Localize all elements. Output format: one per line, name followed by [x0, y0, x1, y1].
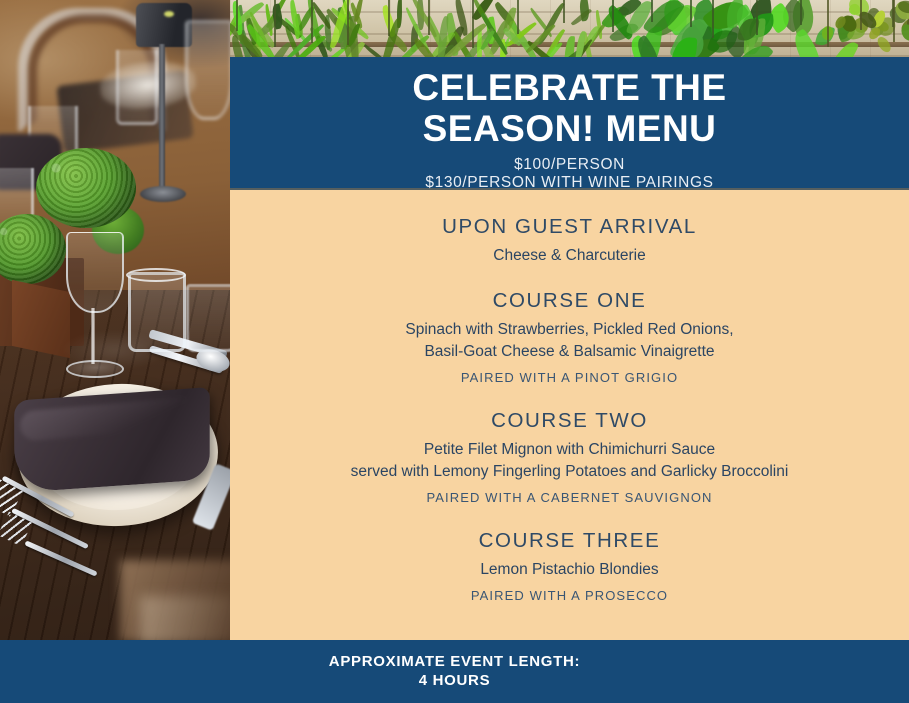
course-description-line-1: Cheese & Charcuterie: [260, 245, 879, 267]
photo-boxwood-ball-large: [36, 148, 136, 228]
course-one: COURSE ONE Spinach with Strawberries, Pi…: [260, 288, 879, 387]
course-description-line-2: served with Lemony Fingerling Potatoes a…: [260, 461, 879, 483]
course-title: UPON GUEST ARRIVAL: [260, 214, 879, 240]
course-three: COURSE THREE Lemon Pistachio Blondies PA…: [260, 528, 879, 605]
course-title: COURSE ONE: [260, 288, 879, 314]
hanging-fresh-herbs-photo: [230, 0, 909, 57]
course-title: COURSE THREE: [260, 528, 879, 554]
photo-wine-glass-stem: [91, 308, 95, 364]
course-description-line-1: Petite Filet Mignon with Chimichurri Sau…: [260, 439, 879, 461]
course-pairing: PAIRED WITH A PROSECCO: [260, 587, 879, 605]
course-arrival: UPON GUEST ARRIVAL Cheese & Charcuterie: [260, 214, 879, 267]
event-length-label: APPROXIMATE EVENT LENGTH: 4 HOURS: [0, 652, 909, 690]
photo-table-lamp-light: [164, 11, 174, 17]
photo-wine-glass-foot: [66, 360, 124, 378]
photo-glass-right: [185, 20, 230, 120]
photo-table-lamp-stem: [159, 44, 165, 190]
price-block: $100/PERSON $130/PERSON WITH WINE PAIRIN…: [254, 156, 885, 192]
course-pairing: PAIRED WITH A CABERNET SAUVIGNON: [260, 489, 879, 507]
photo-mason-jar: [128, 272, 186, 352]
page-title-line-1: CELEBRATE THE: [254, 67, 885, 108]
photo-glass-tall: [116, 50, 158, 125]
course-two: COURSE TWO Petite Filet Mignon with Chim…: [260, 408, 879, 507]
photo-mason-jar-second: [186, 284, 230, 352]
course-description-line-1: Lemon Pistachio Blondies: [260, 559, 879, 581]
course-description-line-2: Basil-Goat Cheese & Balsamic Vinaigrette: [260, 341, 879, 363]
page-title-line-2: SEASON! MENU: [254, 108, 885, 149]
header-band: CELEBRATE THE SEASON! MENU $100/PERSON $…: [230, 57, 909, 188]
menu-flyer: CELEBRATE THE SEASON! MENU $100/PERSON $…: [0, 0, 909, 703]
course-description: Lemon Pistachio Blondies: [260, 559, 879, 581]
photo-foreground-blur-light: [140, 596, 230, 640]
course-title: COURSE TWO: [260, 408, 879, 434]
table-setting-photo: [0, 0, 230, 640]
course-description: Cheese & Charcuterie: [260, 245, 879, 267]
event-length-line-1: APPROXIMATE EVENT LENGTH:: [0, 652, 909, 671]
course-description: Spinach with Strawberries, Pickled Red O…: [260, 319, 879, 363]
course-pairing: PAIRED WITH A PINOT GRIGIO: [260, 369, 879, 387]
price-per-person: $100/PERSON: [254, 156, 885, 174]
course-description: Petite Filet Mignon with Chimichurri Sau…: [260, 439, 879, 483]
photo-table-lamp-base: [140, 186, 186, 202]
footer-bar: APPROXIMATE EVENT LENGTH: 4 HOURS: [0, 640, 909, 703]
menu-body: UPON GUEST ARRIVAL Cheese & Charcuterie …: [230, 190, 909, 640]
event-length-line-2: 4 HOURS: [0, 671, 909, 690]
page-title: CELEBRATE THE SEASON! MENU: [254, 67, 885, 149]
photo-wine-glass-bowl: [66, 232, 124, 313]
course-description-line-1: Spinach with Strawberries, Pickled Red O…: [260, 319, 879, 341]
photo-table-lamp-shade: [136, 3, 192, 47]
